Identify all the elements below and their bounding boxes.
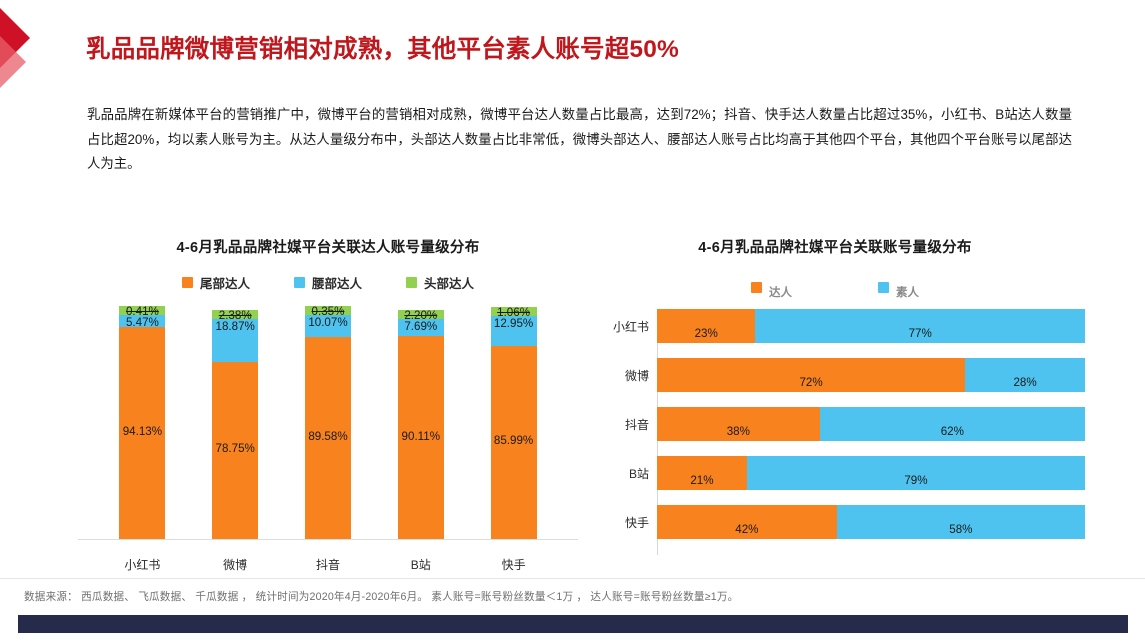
segment-头部达人-微博: 2.38% (212, 310, 258, 319)
legend-item-head: 头部达人 (406, 273, 474, 292)
bar-segment-label: 58% (949, 523, 972, 536)
bar-segment-达人-B站: 21% (657, 456, 747, 490)
footer-bar (18, 615, 1128, 633)
bar-segment-素人-小红书: 77% (755, 309, 1085, 343)
legend-swatch-waist (294, 277, 305, 288)
bar-segment-达人-微博: 72% (657, 358, 965, 392)
column-微博[interactable]: 2.38%18.87%78.75% (212, 304, 258, 539)
footer-source-note: 数据来源： 西瓜数据、 飞瓜数据、 千瓜数据 ， 统计时间为2020年4月-20… (24, 589, 738, 604)
bar-segment-label: 23% (695, 327, 718, 340)
bar-segment-素人-快手: 58% (837, 505, 1085, 539)
segment-腰部达人-微博: 18.87% (212, 319, 258, 361)
legend-label-waist: 腰部达人 (312, 273, 362, 292)
bar-category-label-小红书: 小红书 (585, 318, 649, 335)
bar-row-抖音[interactable]: 抖音38%62% (657, 407, 1085, 441)
bar-segment-label: 38% (727, 425, 750, 438)
segment-尾部达人-微博: 78.75% (212, 362, 258, 539)
chart-daren-level-distribution: 4-6月乳品品牌社媒平台关联达人账号量级分布 尾部达人 腰部达人 头部达人 0.… (78, 236, 578, 576)
segment-label: 78.75% (216, 442, 255, 455)
x-tick-小红书: 小红书 (119, 556, 165, 573)
x-tick-微博: 微博 (212, 556, 258, 573)
column-快手[interactable]: 1.06%12.95%85.99% (491, 304, 537, 539)
chart-right-title: 4-6月乳品品牌社媒平台关联账号量级分布 (585, 236, 1085, 257)
legend-item-waist: 腰部达人 (294, 273, 362, 292)
bar-segment-达人-抖音: 38% (657, 407, 820, 441)
legend-swatch-suren (878, 282, 889, 293)
segment-label: 10.07% (308, 316, 347, 329)
bar-category-label-微博: 微博 (585, 367, 649, 384)
x-tick-抖音: 抖音 (305, 556, 351, 573)
bar-segment-label: 42% (735, 523, 758, 536)
segment-label: 18.87% (216, 320, 255, 333)
segment-头部达人-B站: 2.20% (398, 310, 444, 319)
bar-segment-label: 21% (690, 474, 713, 487)
column-抖音[interactable]: 0.35%10.07%89.58% (305, 304, 351, 539)
segment-label: 89.58% (308, 430, 347, 443)
chevron-decoration-icon (0, 6, 70, 96)
segment-头部达人-快手: 1.06% (491, 307, 537, 316)
chart-left-plot: 0.41%5.47%94.13%2.38%18.87%78.75%0.35%10… (78, 304, 578, 540)
bar-row-微博[interactable]: 微博72%28% (657, 358, 1085, 392)
chart-right-legend: 达人 素人 (585, 279, 1085, 295)
chart-left-x-axis: 小红书微博抖音B站快手 (78, 556, 578, 573)
column-小红书[interactable]: 0.41%5.47%94.13% (119, 304, 165, 539)
bar-segment-素人-B站: 79% (747, 456, 1085, 490)
segment-腰部达人-小红书: 5.47% (119, 315, 165, 327)
legend-label-suren: 素人 (896, 284, 919, 300)
segment-label: 90.11% (402, 430, 440, 443)
chart-left-title: 4-6月乳品品牌社媒平台关联达人账号量级分布 (78, 236, 578, 257)
legend-swatch-tail (182, 277, 193, 288)
segment-label: 7.69% (404, 320, 437, 333)
body-paragraph: 乳品品牌在新媒体平台的营销推广中，微博平台的营销相对成熟，微博平台达人数量占比最… (87, 103, 1072, 177)
bar-segment-label: 28% (1013, 376, 1036, 389)
legend-swatch-head (406, 277, 417, 288)
page-title: 乳品品牌微博营销相对成熟，其他平台素人账号超50% (86, 30, 679, 65)
bar-row-快手[interactable]: 快手42%58% (657, 505, 1085, 539)
chart-left-legend: 尾部达人 腰部达人 头部达人 (78, 273, 578, 292)
bar-segment-素人-抖音: 62% (820, 407, 1085, 441)
bar-track: 42%58% (657, 505, 1085, 539)
segment-腰部达人-快手: 12.95% (491, 316, 537, 345)
bar-segment-素人-微博: 28% (965, 358, 1085, 392)
bar-segment-label: 77% (909, 327, 932, 340)
chart-right-plot: 小红书23%77%微博72%28%抖音38%62%B站21%79%快手42%58… (585, 309, 1085, 555)
chart-account-level-distribution: 4-6月乳品品牌社媒平台关联账号量级分布 达人 素人 小红书23%77%微博72… (585, 236, 1085, 576)
bar-segment-label: 79% (904, 474, 927, 487)
bar-segment-达人-小红书: 23% (657, 309, 755, 343)
legend-item-tail: 尾部达人 (182, 273, 250, 292)
segment-头部达人-抖音: 0.35% (305, 306, 351, 315)
segment-腰部达人-抖音: 10.07% (305, 315, 351, 338)
segment-尾部达人-小红书: 94.13% (119, 327, 165, 539)
segment-腰部达人-B站: 7.69% (398, 319, 444, 336)
segment-尾部达人-抖音: 89.58% (305, 337, 351, 539)
legend-label-daren: 达人 (769, 284, 792, 300)
bar-category-label-抖音: 抖音 (585, 416, 649, 433)
column-B站[interactable]: 2.20%7.69%90.11% (398, 304, 444, 539)
bar-category-label-B站: B站 (585, 465, 649, 482)
legend-item-daren: 达人 (751, 279, 792, 295)
slide: 乳品品牌微博营销相对成熟，其他平台素人账号超50% 乳品品牌在新媒体平台的营销推… (0, 0, 1145, 644)
bar-row-B站[interactable]: B站21%79% (657, 456, 1085, 490)
bar-segment-达人-快手: 42% (657, 505, 837, 539)
bar-category-label-快手: 快手 (585, 514, 649, 531)
bar-segment-label: 72% (799, 376, 822, 389)
x-tick-快手: 快手 (491, 556, 537, 573)
segment-尾部达人-快手: 85.99% (491, 346, 537, 539)
x-tick-B站: B站 (398, 556, 444, 573)
bar-track: 72%28% (657, 358, 1085, 392)
bar-segment-label: 62% (941, 425, 964, 438)
bar-track: 38%62% (657, 407, 1085, 441)
bar-row-小红书[interactable]: 小红书23%77% (657, 309, 1085, 343)
bar-track: 23%77% (657, 309, 1085, 343)
legend-item-suren: 素人 (878, 279, 919, 295)
footer-divider (0, 578, 1145, 579)
segment-label: 85.99% (494, 434, 533, 447)
legend-label-tail: 尾部达人 (200, 273, 250, 292)
segment-尾部达人-B站: 90.11% (398, 336, 444, 539)
legend-swatch-daren (751, 282, 762, 293)
segment-头部达人-小红书: 0.41% (119, 306, 165, 315)
segment-label: 94.13% (123, 425, 162, 438)
bar-track: 21%79% (657, 456, 1085, 490)
segment-label: 12.95% (494, 317, 533, 330)
legend-label-head: 头部达人 (424, 273, 474, 292)
